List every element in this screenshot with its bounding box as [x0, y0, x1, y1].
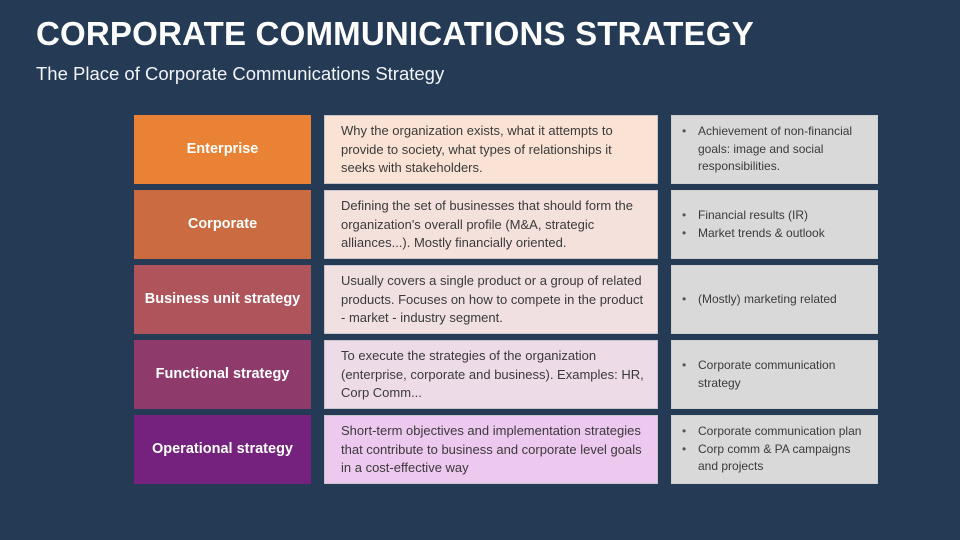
bullet-icon: •	[682, 207, 698, 224]
list-item: •Financial results (IR)	[682, 207, 869, 224]
list-item: •(Mostly) marketing related	[682, 291, 869, 308]
page-title: CORPORATE COMMUNICATIONS STRATEGY	[36, 16, 916, 53]
bullet-text: Achievement of non-financial goals: imag…	[698, 123, 869, 175]
bullet-text: Corporate communication strategy	[698, 357, 869, 392]
list-item: •Corporate communication strategy	[682, 357, 869, 392]
bullet-text: Financial results (IR)	[698, 207, 869, 224]
bullet-icon: •	[682, 423, 698, 440]
level-notes-2: •Financial results (IR)•Market trends & …	[671, 190, 878, 259]
bullet-text: (Mostly) marketing related	[698, 291, 869, 308]
level-notes-3: •(Mostly) marketing related	[671, 265, 878, 334]
level-description-4: To execute the strategies of the organiz…	[324, 340, 658, 409]
level-description-2: Defining the set of businesses that shou…	[324, 190, 658, 259]
matrix-row: Operational strategyShort-term objective…	[134, 415, 878, 484]
bullet-icon: •	[682, 123, 698, 140]
bullet-icon: •	[682, 441, 698, 458]
level-label-4[interactable]: Functional strategy	[134, 340, 311, 409]
level-description-5: Short-term objectives and implementation…	[324, 415, 658, 484]
level-label-2[interactable]: Corporate	[134, 190, 311, 259]
bullet-text: Corporate communication plan	[698, 423, 869, 440]
bullet-text: Corp comm & PA campaigns and projects	[698, 441, 869, 476]
level-description-3: Usually covers a single product or a gro…	[324, 265, 658, 334]
slide-canvas: CORPORATE COMMUNICATIONS STRATEGY The Pl…	[0, 0, 960, 540]
description-text: Usually covers a single product or a gro…	[341, 272, 645, 329]
page-subtitle: The Place of Corporate Communications St…	[36, 63, 916, 84]
bullet-icon: •	[682, 225, 698, 242]
title-block: CORPORATE COMMUNICATIONS STRATEGY The Pl…	[36, 16, 916, 84]
level-notes-4: •Corporate communication strategy	[671, 340, 878, 409]
matrix-row: Functional strategyTo execute the strate…	[134, 340, 878, 409]
bullet-text: Market trends & outlook	[698, 225, 869, 242]
level-label-3[interactable]: Business unit strategy	[134, 265, 311, 334]
description-text: Defining the set of businesses that shou…	[341, 197, 645, 254]
list-item: •Achievement of non-financial goals: ima…	[682, 123, 869, 175]
strategy-matrix: EnterpriseWhy the organization exists, w…	[134, 115, 878, 484]
bullet-icon: •	[682, 291, 698, 308]
list-item: •Corporate communication plan	[682, 423, 869, 440]
list-item: •Corp comm & PA campaigns and projects	[682, 441, 869, 476]
matrix-row: EnterpriseWhy the organization exists, w…	[134, 115, 878, 184]
level-notes-1: •Achievement of non-financial goals: ima…	[671, 115, 878, 184]
description-text: Short-term objectives and implementation…	[341, 422, 645, 479]
matrix-row: Business unit strategyUsually covers a s…	[134, 265, 878, 334]
level-label-5[interactable]: Operational strategy	[134, 415, 311, 484]
level-notes-5: •Corporate communication plan•Corp comm …	[671, 415, 878, 484]
matrix-row: CorporateDefining the set of businesses …	[134, 190, 878, 259]
list-item: •Market trends & outlook	[682, 225, 869, 242]
description-text: To execute the strategies of the organiz…	[341, 347, 645, 404]
description-text: Why the organization exists, what it att…	[341, 122, 645, 179]
level-label-1[interactable]: Enterprise	[134, 115, 311, 184]
bullet-icon: •	[682, 357, 698, 374]
level-description-1: Why the organization exists, what it att…	[324, 115, 658, 184]
